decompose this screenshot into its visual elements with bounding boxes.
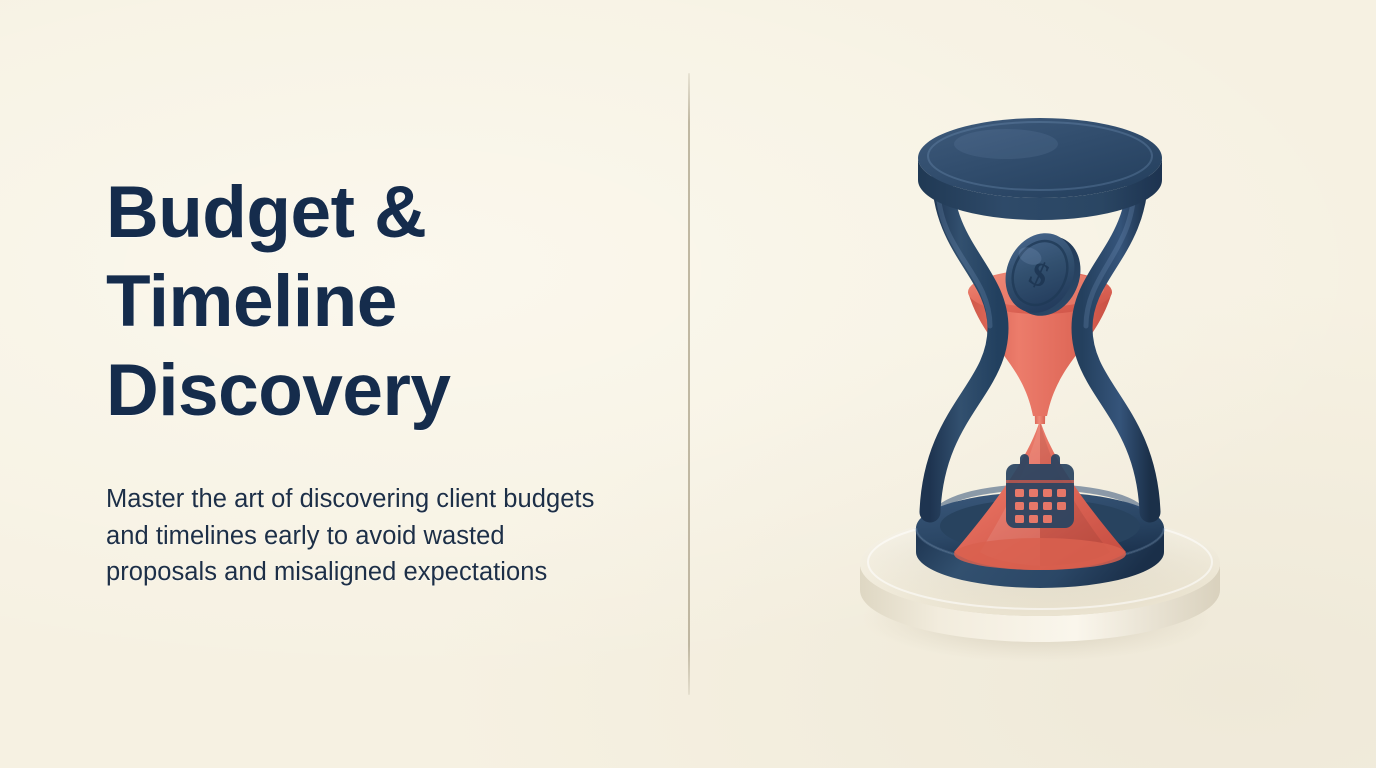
calendar-icon	[1006, 454, 1074, 528]
hourglass-illustration: $	[830, 60, 1250, 700]
slide-canvas: Budget & Timeline Discovery Master the a…	[0, 0, 1376, 768]
vertical-divider	[688, 73, 690, 695]
page-title: Budget & Timeline Discovery	[106, 168, 626, 435]
page-subtitle: Master the art of discovering client bud…	[106, 481, 606, 591]
text-column: Budget & Timeline Discovery Master the a…	[106, 168, 626, 591]
hourglass-top-cap	[918, 118, 1162, 220]
